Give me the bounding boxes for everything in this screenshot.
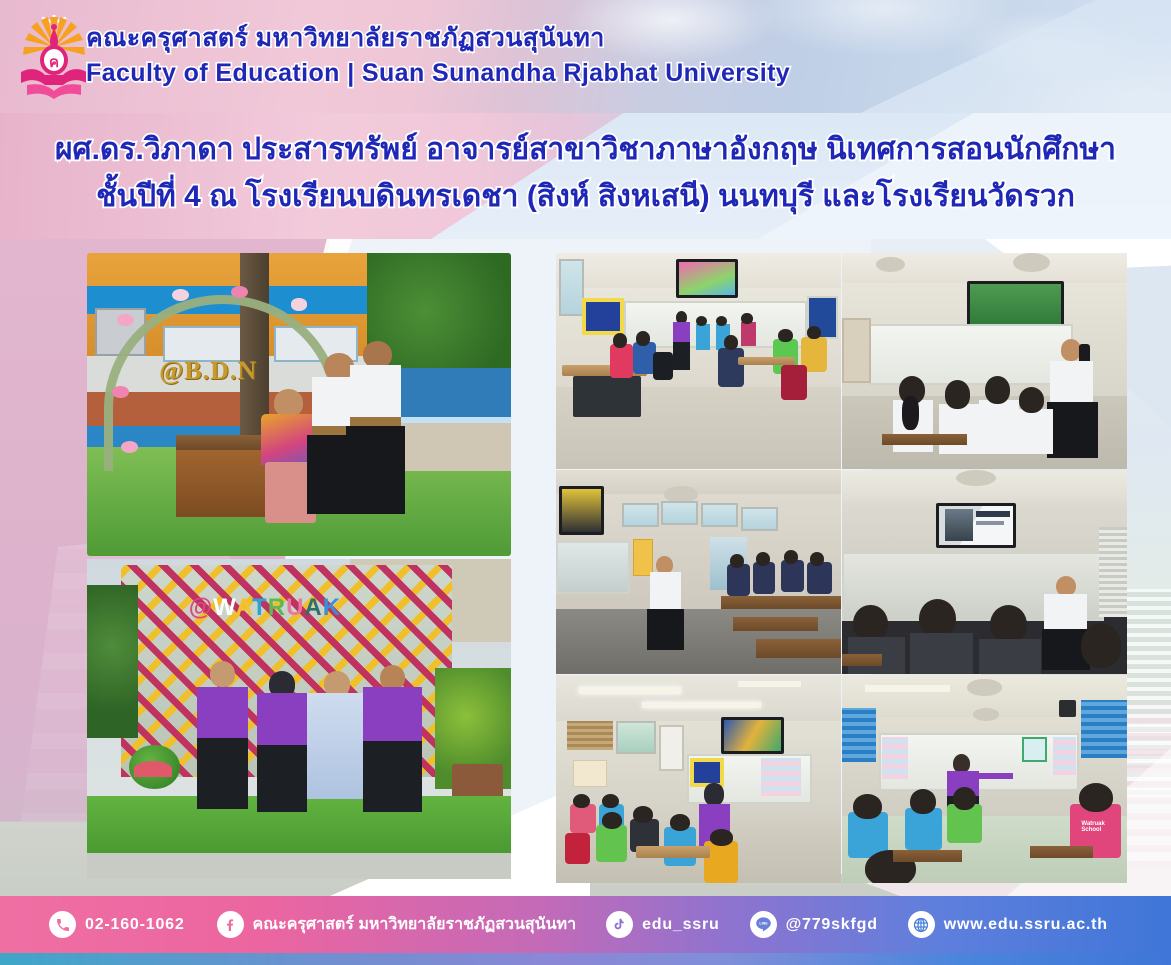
footer-bottom-strip	[0, 953, 1171, 965]
footer-website-label: www.edu.ssru.ac.th	[944, 916, 1108, 934]
header-band: ค คณะครุศาสตร์ มหาวิทยาลัยราชภัฏสวนสุนัน…	[0, 0, 1171, 113]
ssru-emblem-logo: ค	[17, 13, 91, 101]
photo-right-5	[556, 675, 841, 883]
footer-line-label: @779skfgd	[786, 916, 878, 934]
footer-tiktok-label: edu_ssru	[642, 916, 720, 934]
footer-item-tiktok[interactable]: edu_ssru	[606, 911, 720, 938]
phone-icon	[49, 911, 76, 938]
poster-canvas: ค คณะครุศาสตร์ มหาวิทยาลัยราชภัฏสวนสุนัน…	[0, 0, 1171, 965]
photo-right-4	[842, 470, 1127, 674]
globe-icon	[908, 911, 935, 938]
photo-left-top: @B.D.N	[87, 253, 511, 556]
tiktok-icon	[606, 911, 633, 938]
footer-item-facebook[interactable]: คณะครุศาสตร์ มหาวิทยาลัยราชภัฏสวนสุนันทา	[217, 911, 577, 938]
header-title-english: Faculty of Education | Suan Sunandha Rja…	[86, 56, 790, 90]
poster-title: ผศ.ดร.วิภาดา ประสารทรัพย์ อาจารย์สาขาวิช…	[0, 126, 1171, 220]
line-icon: LINE	[750, 911, 777, 938]
title-line-2: ชั้นปีที่ 4 ณ โรงเรียนบดินทรเดชา (สิงห์ …	[0, 173, 1171, 220]
header-title-block: คณะครุศาสตร์ มหาวิทยาลัยราชภัฏสวนสุนันทา…	[86, 21, 790, 90]
photo-right-6: Watruak School	[842, 675, 1127, 883]
photo-left-bottom: @WATRUAK	[87, 559, 511, 879]
facebook-icon	[217, 911, 244, 938]
header-title-thai: คณะครุศาสตร์ มหาวิทยาลัยราชภัฏสวนสุนันทา	[86, 21, 790, 55]
svg-text:ค: ค	[49, 53, 59, 71]
title-line-1: ผศ.ดร.วิภาดา ประสารทรัพย์ อาจารย์สาขาวิช…	[0, 126, 1171, 173]
footer-contact-bar: 02-160-1062 คณะครุศาสตร์ มหาวิทยาลัยราชภ…	[0, 896, 1171, 953]
footer-item-phone[interactable]: 02-160-1062	[49, 911, 185, 938]
content-area: @B.D.N	[0, 239, 1171, 896]
photo-right-2	[842, 253, 1127, 469]
photo-right-3	[556, 470, 841, 674]
footer-facebook-label: คณะครุศาสตร์ มหาวิทยาลัยราชภัฏสวนสุนันทา	[253, 912, 577, 937]
title-band: ผศ.ดร.วิภาดา ประสารทรัพย์ อาจารย์สาขาวิช…	[0, 113, 1171, 239]
footer-item-website[interactable]: www.edu.ssru.ac.th	[908, 911, 1108, 938]
footer-phone-label: 02-160-1062	[85, 916, 185, 934]
photo-right-1	[556, 253, 841, 469]
svg-text:LINE: LINE	[759, 922, 768, 926]
photo-collage: @B.D.N	[0, 239, 1171, 896]
footer-item-line[interactable]: LINE @779skfgd	[750, 911, 878, 938]
